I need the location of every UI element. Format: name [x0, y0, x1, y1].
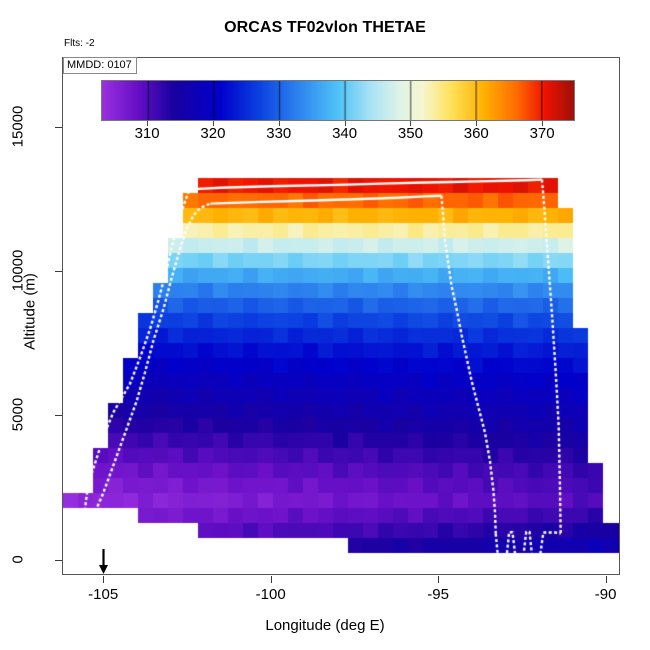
x-axis-title: Longitude (deg E)	[0, 617, 650, 634]
colorbar-tick-label: 310	[135, 125, 160, 142]
y-axis-tick-label: 0	[10, 524, 27, 594]
colorbar-tick-label: 370	[530, 125, 555, 142]
y-axis-title: Altitude (m)	[22, 222, 39, 402]
x-axis-tick-label: -95	[427, 586, 449, 603]
x-axis-tick-label: -105	[88, 586, 118, 603]
colorbar-gradient	[101, 80, 575, 121]
y-axis-tick-label: 15000	[10, 92, 27, 162]
y-axis-tick	[55, 271, 62, 272]
colorbar-tick-label: 360	[464, 125, 489, 142]
colorbar-tick-label: 340	[332, 125, 357, 142]
colorbar-tick-label: 330	[266, 125, 291, 142]
x-axis-tick	[438, 576, 439, 583]
x-axis-tick	[103, 576, 104, 583]
x-axis-tick-label: -100	[256, 586, 286, 603]
colorbar: 310320330340350360370	[101, 80, 575, 121]
y-axis-tick	[55, 127, 62, 128]
page-title: ORCAS TF02vlon THETAE	[0, 19, 650, 37]
y-axis-tick	[55, 560, 62, 561]
x-axis-tick	[606, 576, 607, 583]
colorbar-tick-label: 350	[398, 125, 423, 142]
x-axis-tick-label: -90	[595, 586, 617, 603]
x-axis-tick	[271, 576, 272, 583]
colorbar-tick-label: 320	[200, 125, 225, 142]
y-axis-tick	[55, 415, 62, 416]
flights-annotation: Flts: -2	[64, 38, 95, 49]
chart-figure: ORCAS TF02vlon THETAE Flts: -2 MMDD: 010…	[0, 0, 650, 650]
down-arrow-icon	[98, 549, 109, 575]
date-annotation: MMDD: 0107	[63, 57, 137, 74]
